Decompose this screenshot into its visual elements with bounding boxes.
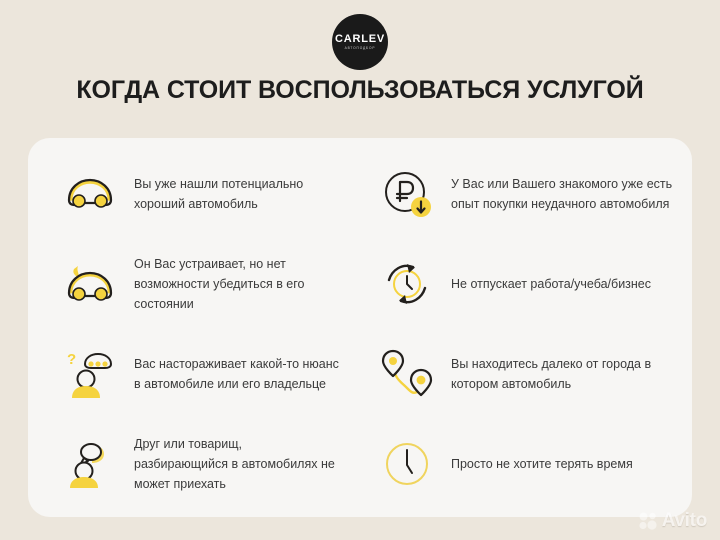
ruble-down-arrow-icon: [379, 166, 435, 222]
car-icon: [62, 166, 118, 222]
list-item: Просто не хотите терять время: [379, 419, 682, 509]
person-speech-bubble-icon: [62, 436, 118, 492]
list-item: Вы уже нашли потенциально хороший автомо…: [62, 149, 365, 239]
list-item-label: У Вас или Вашего знакомого уже есть опыт…: [451, 174, 682, 215]
list-item: Вы находитесь далеко от города в котором…: [379, 329, 682, 419]
brand-logo: CARLEV АВТОПОДБОР: [332, 14, 388, 70]
brand-logo-container: CARLEV АВТОПОДБОР: [0, 14, 720, 70]
avito-watermark: Avito: [639, 510, 707, 532]
svg-text:?: ?: [67, 351, 76, 368]
avito-logo-icon: [639, 512, 659, 530]
list-item-label: Вы находитесь далеко от города в котором…: [451, 354, 682, 395]
benefits-card: Вы уже нашли потенциально хороший автомо…: [28, 138, 692, 517]
brand-logo-name: CARLEV: [335, 34, 385, 45]
list-item: Не отпускает работа/учеба/бизнес: [379, 239, 682, 329]
clock-icon: [379, 436, 435, 492]
list-item: У Вас или Вашего знакомого уже есть опыт…: [379, 149, 682, 239]
person-question-car-icon: ?: [62, 346, 118, 402]
clock-refresh-icon: [379, 256, 435, 312]
avito-watermark-label: Avito: [662, 510, 707, 532]
list-item: ? Вас настораживает какой-то нюанс в авт…: [62, 329, 365, 419]
page-title: КОГДА СТОИТ ВОСПОЛЬЗОВАТЬСЯ УСЛУГОЙ: [0, 76, 720, 105]
list-item-label: Вы уже нашли потенциально хороший автомо…: [134, 174, 339, 215]
list-item-label: Вас настораживает какой-то нюанс в автом…: [134, 354, 339, 395]
list-item-label: Он Вас устраивает, но нет возможности уб…: [134, 254, 339, 315]
list-item: Друг или товарищ, разбирающийся в автомо…: [62, 419, 365, 509]
list-item-label: Друг или товарищ, разбирающийся в автомо…: [134, 434, 339, 495]
list-item-label: Просто не хотите терять время: [451, 454, 633, 474]
benefits-column-left: Вы уже нашли потенциально хороший автомо…: [28, 138, 371, 517]
map-route-pins-icon: [379, 346, 435, 402]
benefits-columns: Вы уже нашли потенциально хороший автомо…: [28, 138, 692, 517]
list-item-label: Не отпускает работа/учеба/бизнес: [451, 274, 651, 294]
poster-page: CARLEV АВТОПОДБОР КОГДА СТОИТ ВОСПОЛЬЗОВ…: [0, 0, 720, 540]
brand-logo-tagline: АВТОПОДБОР: [345, 47, 376, 50]
car-spark-icon: [62, 256, 118, 312]
list-item: Он Вас устраивает, но нет возможности уб…: [62, 239, 365, 329]
benefits-column-right: У Вас или Вашего знакомого уже есть опыт…: [371, 138, 692, 517]
